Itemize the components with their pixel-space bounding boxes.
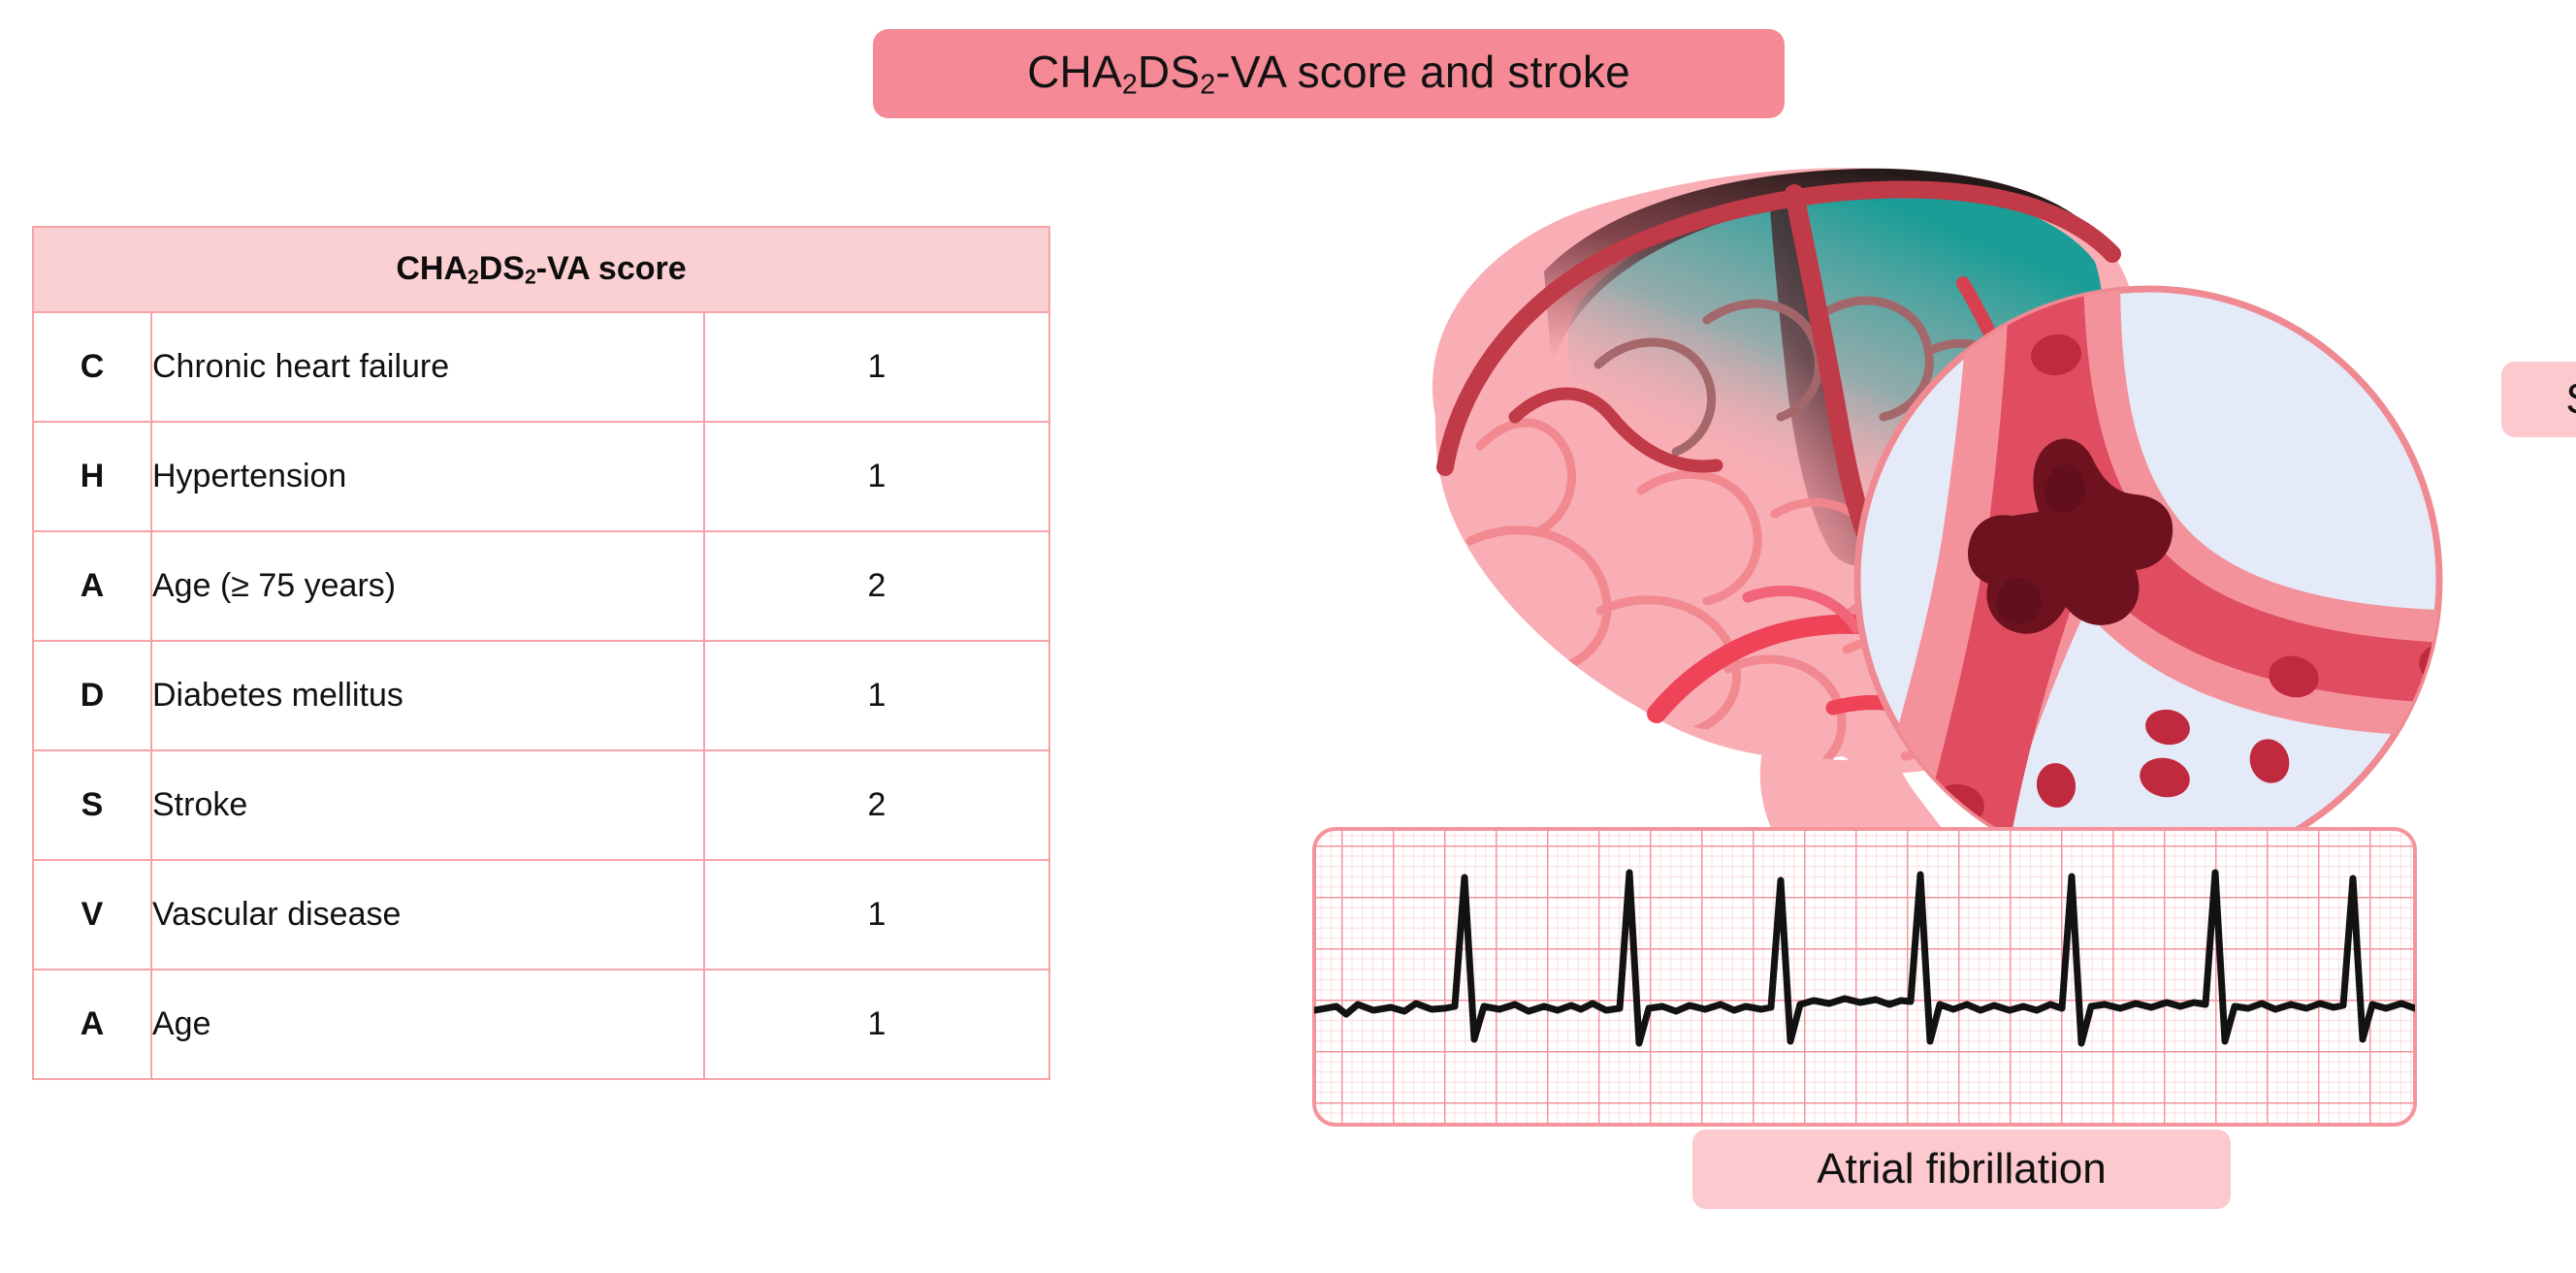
row-points: 1 xyxy=(704,860,1049,970)
atrial-fibrillation-label-chip: Atrial fibrillation xyxy=(1692,1130,2231,1209)
row-description: Age xyxy=(151,970,704,1079)
table-row: DDiabetes mellitus1 xyxy=(33,641,1049,750)
row-letter: H xyxy=(33,422,151,531)
row-description: Age (≥ 75 years) xyxy=(151,531,704,641)
stroke-illustration-group: Stroke xyxy=(1290,126,2551,1251)
row-letter: D xyxy=(33,641,151,750)
row-points: 2 xyxy=(704,531,1049,641)
illustration-canvas xyxy=(1290,126,2551,1251)
row-description: Chronic heart failure xyxy=(151,312,704,422)
stroke-label-text: Stroke xyxy=(2565,375,2576,424)
row-description: Stroke xyxy=(151,750,704,860)
stroke-label-chip: Stroke xyxy=(2501,362,2576,437)
table-row: VVascular disease1 xyxy=(33,860,1049,970)
page-title-text: CHA2DS2-VA score and stroke xyxy=(1027,46,1630,101)
row-description: Hypertension xyxy=(151,422,704,531)
ecg-strip xyxy=(1314,829,2415,1125)
row-description: Vascular disease xyxy=(151,860,704,970)
row-letter: C xyxy=(33,312,151,422)
row-points: 1 xyxy=(704,312,1049,422)
row-letter: S xyxy=(33,750,151,860)
table-row: CChronic heart failure1 xyxy=(33,312,1049,422)
row-points: 1 xyxy=(704,641,1049,750)
table-header-row: CHA2DS2-VA score xyxy=(33,227,1049,312)
row-points: 1 xyxy=(704,970,1049,1079)
row-points: 2 xyxy=(704,750,1049,860)
table-row: HHypertension1 xyxy=(33,422,1049,531)
page-title-banner: CHA2DS2-VA score and stroke xyxy=(873,29,1785,118)
row-description: Diabetes mellitus xyxy=(151,641,704,750)
cha2ds2-va-score-table: CHA2DS2-VA score CChronic heart failure1… xyxy=(32,226,1050,1080)
row-points: 1 xyxy=(704,422,1049,531)
atrial-fibrillation-label-text: Atrial fibrillation xyxy=(1817,1145,2106,1193)
row-letter: A xyxy=(33,970,151,1079)
table-row: AAge1 xyxy=(33,970,1049,1079)
table-row: SStroke2 xyxy=(33,750,1049,860)
table-row: AAge (≥ 75 years)2 xyxy=(33,531,1049,641)
row-letter: V xyxy=(33,860,151,970)
table-title-cell: CHA2DS2-VA score xyxy=(33,227,1049,312)
row-letter: A xyxy=(33,531,151,641)
